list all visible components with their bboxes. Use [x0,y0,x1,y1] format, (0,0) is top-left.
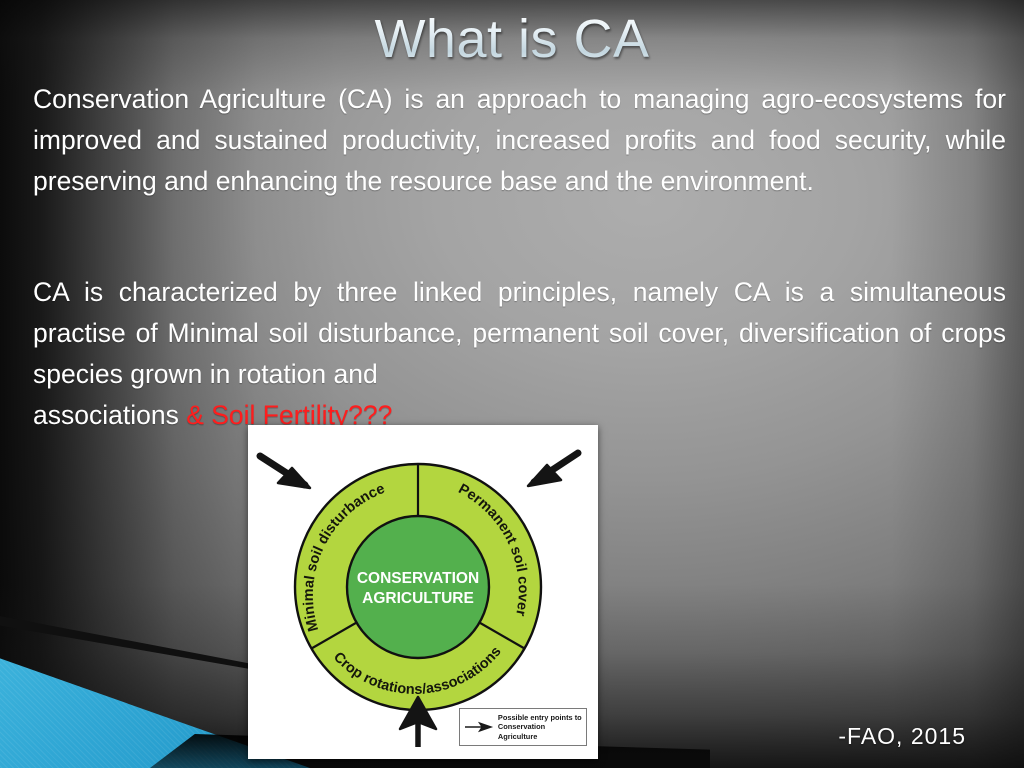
center-label-line2: AGRICULTURE [362,590,474,607]
legend-line-2: Conservation Agriculture [498,722,586,741]
paragraph-line: enhancing the resource base and the envi… [216,166,814,196]
paragraph-line: Conservation Agriculture (CA) is an appr… [33,84,750,114]
paragraph-line: CA is characterized by three linked prin… [33,277,834,307]
conservation-agriculture-diagram-image: CONSERVATION AGRICULTURE Minimal soil di… [248,425,598,759]
diagram-legend: Possible entry points to Conservation Ag… [459,708,587,746]
slide-title: What is CA [0,8,1024,70]
entry-arrow-upper-right [528,453,578,486]
paragraph-principles: CA is characterized by three linked prin… [33,272,1006,436]
legend-arrow-icon [464,720,494,734]
source-attribution: -FAO, 2015 [838,723,966,750]
paragraph-definition: Conservation Agriculture (CA) is an appr… [33,79,1006,202]
entry-arrow-upper-left [260,456,310,488]
presentation-slide: What is CA Conservation Agriculture (CA)… [0,0,1024,768]
diagram-center-circle [347,516,489,658]
center-label-line1: CONSERVATION [357,570,479,587]
legend-line-1: Possible entry points to [498,713,586,723]
paragraph-line-plain: associations [33,400,186,430]
